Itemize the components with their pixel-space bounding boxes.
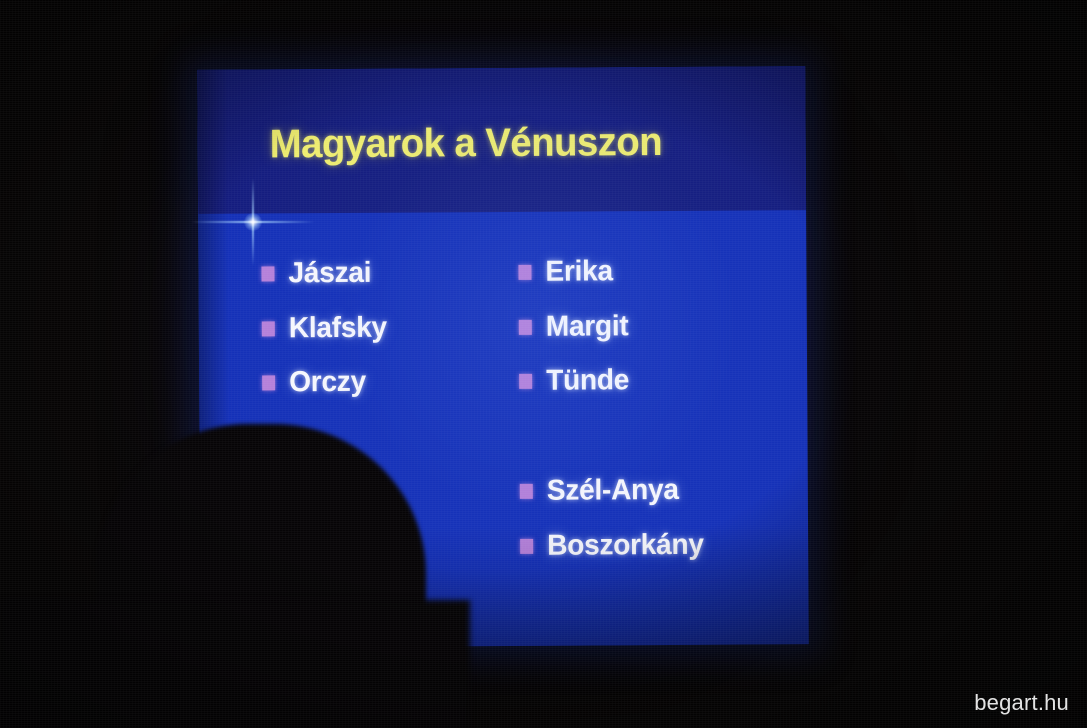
list-item: Jászai xyxy=(261,256,373,291)
bullet-column-left: Jászai Klafsky Orczy xyxy=(261,212,481,213)
list-item-label: Tünde xyxy=(546,364,629,398)
list-item: Tünde xyxy=(519,363,632,398)
bullet-square-icon xyxy=(520,483,533,498)
list-item: Klafsky xyxy=(262,311,390,346)
list-item: Szél-Anya xyxy=(520,473,683,508)
bullet-square-icon xyxy=(519,319,532,334)
bullet-square-icon xyxy=(520,538,533,553)
bullet-square-icon xyxy=(262,375,275,390)
list-item: Erika xyxy=(518,254,615,289)
watermark: begart.hu xyxy=(974,690,1069,716)
head-silhouette-base xyxy=(0,600,470,728)
list-item-label: Margit xyxy=(546,310,629,344)
list-item: Boszorkány xyxy=(520,528,709,563)
photograph: Magyarok a Vénuszon Jászai Klafsky Orczy xyxy=(0,0,1087,728)
list-item-label: Jászai xyxy=(288,256,371,290)
list-item-label: Klafsky xyxy=(289,311,387,345)
bullet-square-icon xyxy=(519,373,532,388)
list-item: Margit xyxy=(519,309,631,344)
list-item-label: Orczy xyxy=(289,365,366,398)
bullet-square-icon xyxy=(261,266,274,281)
slide-title: Magyarok a Vénuszon xyxy=(270,120,663,167)
list-item: Orczy xyxy=(262,365,368,400)
list-item-label: Erika xyxy=(545,255,613,288)
list-item-label: Boszorkány xyxy=(547,528,704,562)
bullet-square-icon xyxy=(518,264,531,279)
bullet-square-icon xyxy=(262,321,275,336)
list-item-label: Szél-Anya xyxy=(547,473,679,507)
